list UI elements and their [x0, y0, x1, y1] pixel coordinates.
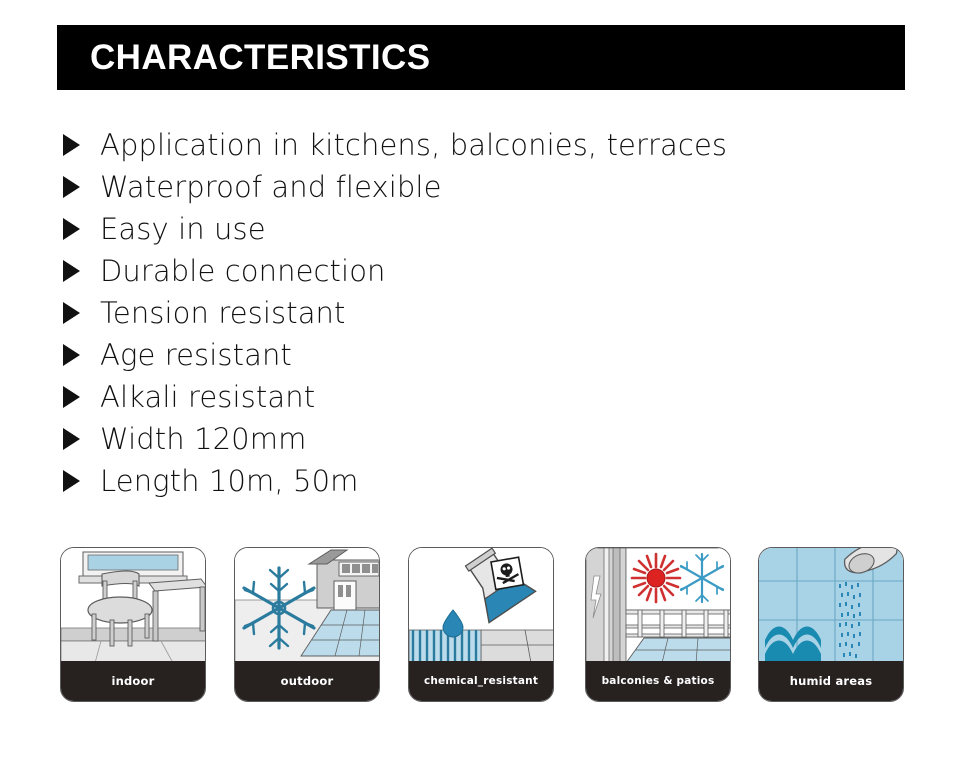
- list-item: Waterproof and flexible: [60, 166, 880, 208]
- card-label: outdoor: [281, 674, 334, 688]
- card-label: balconies & patios: [602, 675, 715, 687]
- icon-card-indoor: indoor: [60, 547, 206, 702]
- list-item: Easy in use: [60, 208, 880, 250]
- list-item: Alkali resistant: [60, 376, 880, 418]
- icon-card-chemical-resistant: chemical_resistant: [408, 547, 554, 702]
- card-label: indoor: [111, 674, 154, 688]
- chemical-flask-skull-hazard-droplet-icon: [409, 548, 553, 663]
- card-footer: indoor: [61, 661, 205, 701]
- list-item: Length 10m, 50m: [60, 460, 880, 502]
- list-item: Width 120mm: [60, 418, 880, 460]
- right-triangle-bullet-icon: [60, 386, 100, 408]
- card-footer: chemical_resistant: [409, 661, 553, 701]
- list-item-label: Width 120mm: [100, 422, 306, 456]
- right-triangle-bullet-icon: [60, 470, 100, 492]
- card-label: humid areas: [790, 674, 873, 688]
- icon-card-row: indoor: [0, 547, 963, 703]
- card-footer: humid areas: [759, 661, 903, 701]
- right-triangle-bullet-icon: [60, 344, 100, 366]
- right-triangle-bullet-icon: [60, 134, 100, 156]
- right-triangle-bullet-icon: [60, 302, 100, 324]
- right-triangle-bullet-icon: [60, 428, 100, 450]
- list-item: Tension resistant: [60, 292, 880, 334]
- list-item-label: Easy in use: [100, 212, 266, 246]
- header-band: CHARACTERISTICS: [57, 25, 905, 90]
- page-title: CHARACTERISTICS: [90, 38, 430, 78]
- right-triangle-bullet-icon: [60, 218, 100, 240]
- list-item-label: Age resistant: [100, 338, 292, 372]
- list-item-label: Tension resistant: [100, 296, 346, 330]
- list-item-label: Durable connection: [100, 254, 386, 288]
- card-footer: balconies & patios: [586, 661, 730, 701]
- card-footer: outdoor: [235, 661, 379, 701]
- indoor-room-chair-table-window-icon: [61, 548, 205, 663]
- balcony-sun-snowflake-railing-icon: [586, 548, 730, 663]
- humid-shower-head-water-waves-icon: [759, 548, 903, 663]
- list-item-label: Application in kitchens, balconies, terr…: [100, 128, 727, 162]
- right-triangle-bullet-icon: [60, 176, 100, 198]
- icon-card-outdoor: outdoor: [234, 547, 380, 702]
- outdoor-snowflake-house-patio-icon: [235, 548, 379, 663]
- icon-card-balconies-patios: balconies & patios: [585, 547, 731, 702]
- feature-list: Application in kitchens, balconies, terr…: [60, 124, 880, 502]
- card-label: chemical_resistant: [424, 675, 538, 687]
- list-item: Age resistant: [60, 334, 880, 376]
- icon-card-humid-areas: humid areas: [758, 547, 904, 702]
- list-item-label: Length 10m, 50m: [100, 464, 358, 498]
- list-item: Application in kitchens, balconies, terr…: [60, 124, 880, 166]
- list-item-label: Alkali resistant: [100, 380, 315, 414]
- list-item-label: Waterproof and flexible: [100, 170, 442, 204]
- list-item: Durable connection: [60, 250, 880, 292]
- right-triangle-bullet-icon: [60, 260, 100, 282]
